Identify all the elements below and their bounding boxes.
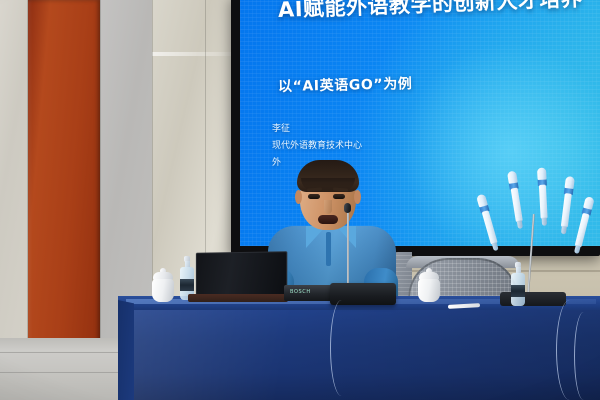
presenter-mouth (318, 215, 338, 224)
presenter-eye-left (308, 194, 320, 199)
wall-panel-marble-left (0, 0, 28, 350)
tea-cup-right (418, 272, 440, 302)
wall-panel-wood (28, 0, 100, 344)
table-cloth-side (118, 300, 134, 400)
water-bottle-right (511, 262, 525, 306)
presenter-ear-right (354, 190, 361, 204)
laptop-screen (196, 251, 287, 297)
microphone-tip (542, 218, 547, 226)
cup-body (418, 279, 440, 302)
microphone-tip (517, 220, 523, 229)
presenter-collar-right (336, 226, 356, 248)
gooseneck-microphone-head (344, 203, 351, 213)
presenter-ear-left (295, 190, 302, 204)
microphone-cable (330, 300, 353, 396)
microphone-base-unit (500, 292, 566, 306)
laptop (188, 252, 286, 304)
presenter-hair (297, 160, 359, 192)
presenter-shirt-placket (326, 232, 331, 266)
laptop-base (188, 294, 288, 302)
photo-scene: AI赋能外语教学的创新人才培养 以“AI英语GO”为例 李征 现代外语教育技术中… (0, 0, 600, 400)
cup-body (152, 279, 174, 302)
slide-presenter-name: 李征 (272, 121, 362, 138)
slide-affiliation-line-1: 现代外语教育技术中心 (272, 138, 362, 155)
wall-seam (100, 0, 101, 350)
microphone-cable (574, 312, 593, 400)
wall-seam (27, 0, 28, 350)
bosch-brand-label: BOSCH (290, 289, 311, 295)
gooseneck-microphone-stem (347, 210, 349, 288)
presenter-nose (324, 200, 332, 214)
presenter-eye-right (333, 194, 345, 199)
bottle-label (511, 285, 525, 297)
tea-cup-left (152, 272, 174, 302)
slide-subtitle: 以“AI英语GO”为例 (278, 73, 413, 96)
table-cloth-front (120, 310, 600, 400)
